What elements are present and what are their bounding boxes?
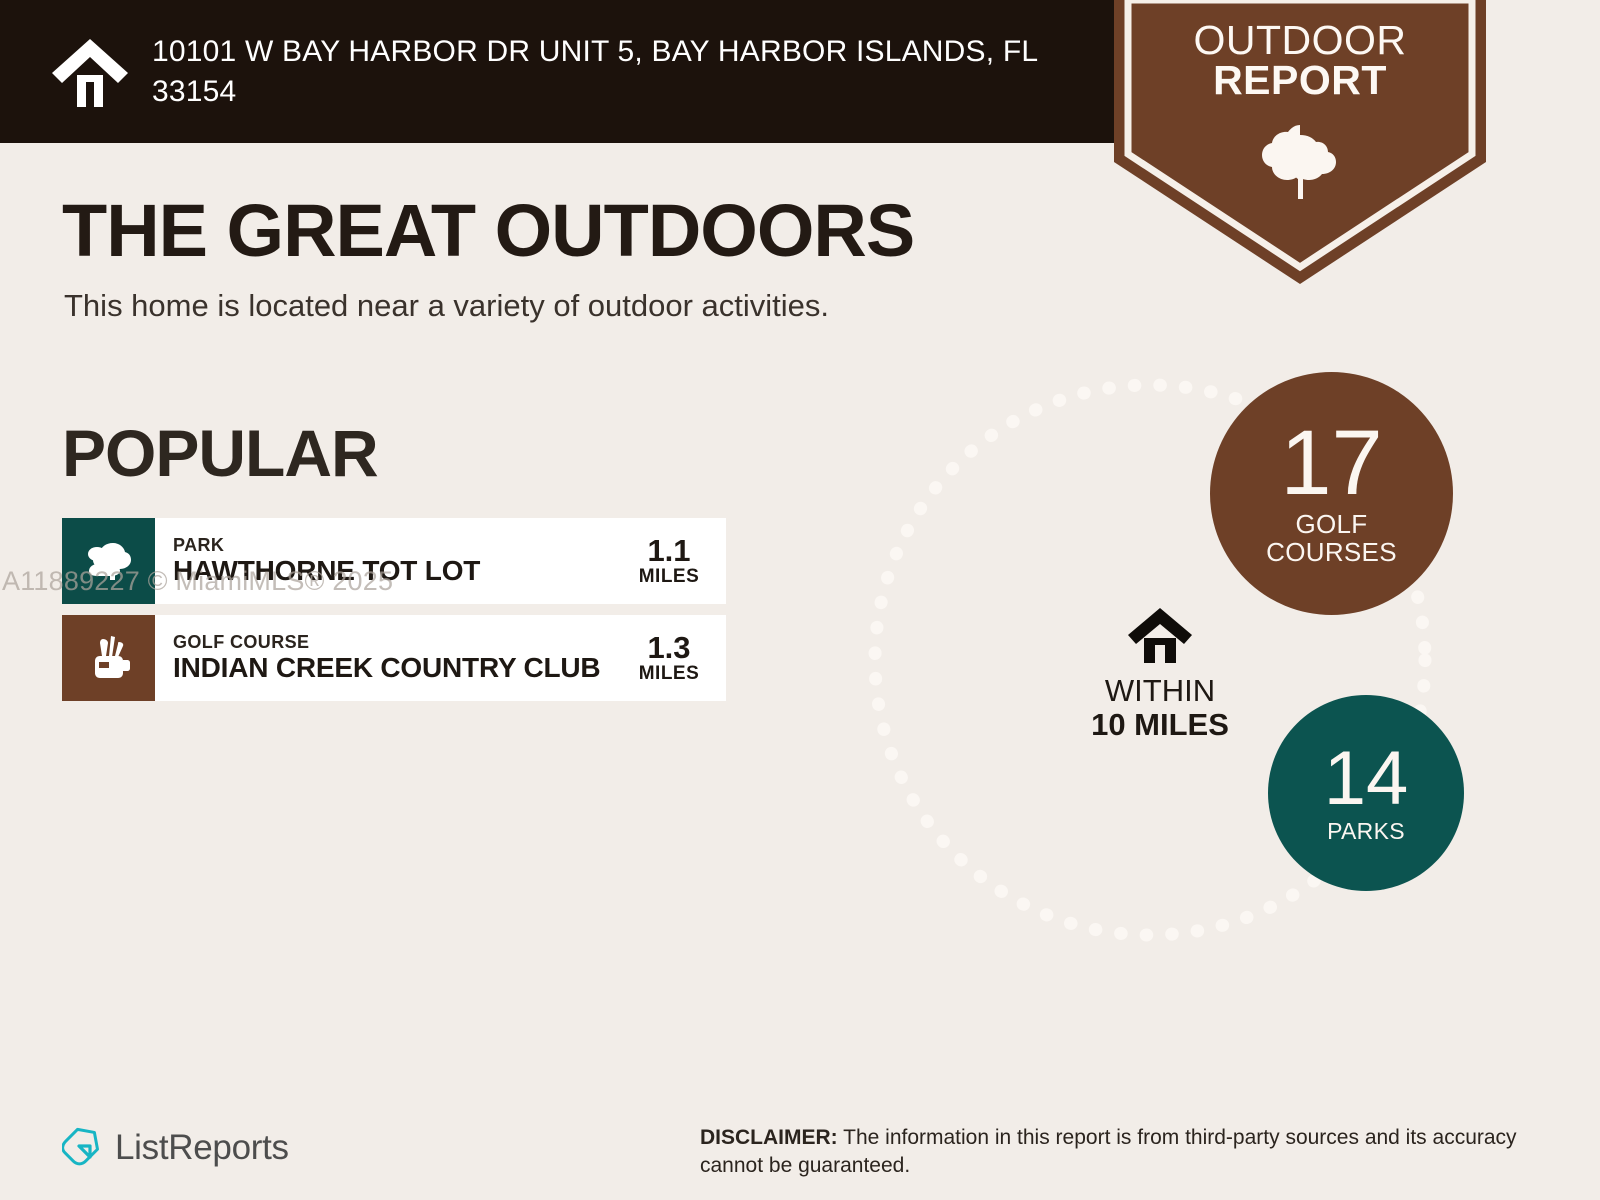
stat-label-line-1: GOLF xyxy=(1296,509,1368,539)
list-item-text: PARK HAWTHORNE TOT LOT xyxy=(155,518,630,604)
distance-value: 1.3 xyxy=(647,632,690,663)
stat-golf-courses[interactable]: 17 GOLF COURSES xyxy=(1210,372,1453,615)
stat-label: PARKS xyxy=(1327,819,1405,844)
center-marker: WITHIN 10 MILES xyxy=(1055,605,1265,742)
listreports-logo-text: ListReports xyxy=(115,1128,289,1168)
list-item-category: GOLF COURSE xyxy=(173,632,630,653)
distance-unit: MILES xyxy=(639,566,700,588)
list-item-name: INDIAN CREEK COUNTRY CLUB xyxy=(173,652,630,684)
list-item-name: HAWTHORNE TOT LOT xyxy=(173,555,630,587)
page-subtitle: This home is located near a variety of o… xyxy=(64,288,829,324)
list-item-distance: 1.3 MILES xyxy=(630,615,726,701)
radius-diagram: WITHIN 10 MILES 17 GOLF COURSES 14 PARKS xyxy=(820,360,1520,1000)
list-item[interactable]: GOLF COURSE INDIAN CREEK COUNTRY CLUB 1.… xyxy=(62,615,726,701)
page-title: THE GREAT OUTDOORS xyxy=(62,188,914,273)
golf-bag-icon xyxy=(83,630,135,687)
list-item-category: PARK xyxy=(173,535,630,556)
center-radius-label: 10 MILES xyxy=(1055,708,1265,742)
outdoor-report-badge: OUTDOOR REPORT xyxy=(1114,0,1486,284)
popular-list: PARK HAWTHORNE TOT LOT 1.1 MILES GOLF CO… xyxy=(62,518,726,712)
stat-parks[interactable]: 14 PARKS xyxy=(1268,695,1464,891)
badge-title: OUTDOOR REPORT xyxy=(1114,20,1486,100)
house-icon xyxy=(1126,605,1194,665)
listreports-logo[interactable]: ListReports xyxy=(62,1122,289,1173)
disclaimer-label: DISCLAIMER: xyxy=(700,1126,838,1149)
stat-label-line-2: COURSES xyxy=(1266,537,1397,567)
house-icon xyxy=(50,35,130,109)
list-item-text: GOLF COURSE INDIAN CREEK COUNTRY CLUB xyxy=(155,615,630,701)
header-bar: 10101 W BAY HARBOR DR UNIT 5, BAY HARBOR… xyxy=(0,0,1140,143)
stat-label: GOLF COURSES xyxy=(1266,511,1397,567)
list-item-distance: 1.1 MILES xyxy=(630,518,726,604)
golf-icon-tile xyxy=(62,615,155,701)
list-item[interactable]: PARK HAWTHORNE TOT LOT 1.1 MILES xyxy=(62,518,726,604)
popular-heading: POPULAR xyxy=(62,415,378,491)
property-address: 10101 W BAY HARBOR DR UNIT 5, BAY HARBOR… xyxy=(152,32,1112,111)
listreports-house-pin-icon xyxy=(62,1122,115,1173)
distance-value: 1.1 xyxy=(647,535,690,566)
park-icon-tile xyxy=(62,518,155,604)
park-trees-icon xyxy=(83,533,135,590)
distance-unit: MILES xyxy=(639,663,700,685)
badge-title-line-2: REPORT xyxy=(1114,60,1486,100)
stat-value: 17 xyxy=(1280,420,1382,507)
center-within-label: WITHIN xyxy=(1055,674,1265,708)
disclaimer: DISCLAIMER: The information in this repo… xyxy=(700,1124,1520,1179)
stat-value: 14 xyxy=(1324,743,1409,815)
badge-title-line-1: OUTDOOR xyxy=(1114,20,1486,60)
